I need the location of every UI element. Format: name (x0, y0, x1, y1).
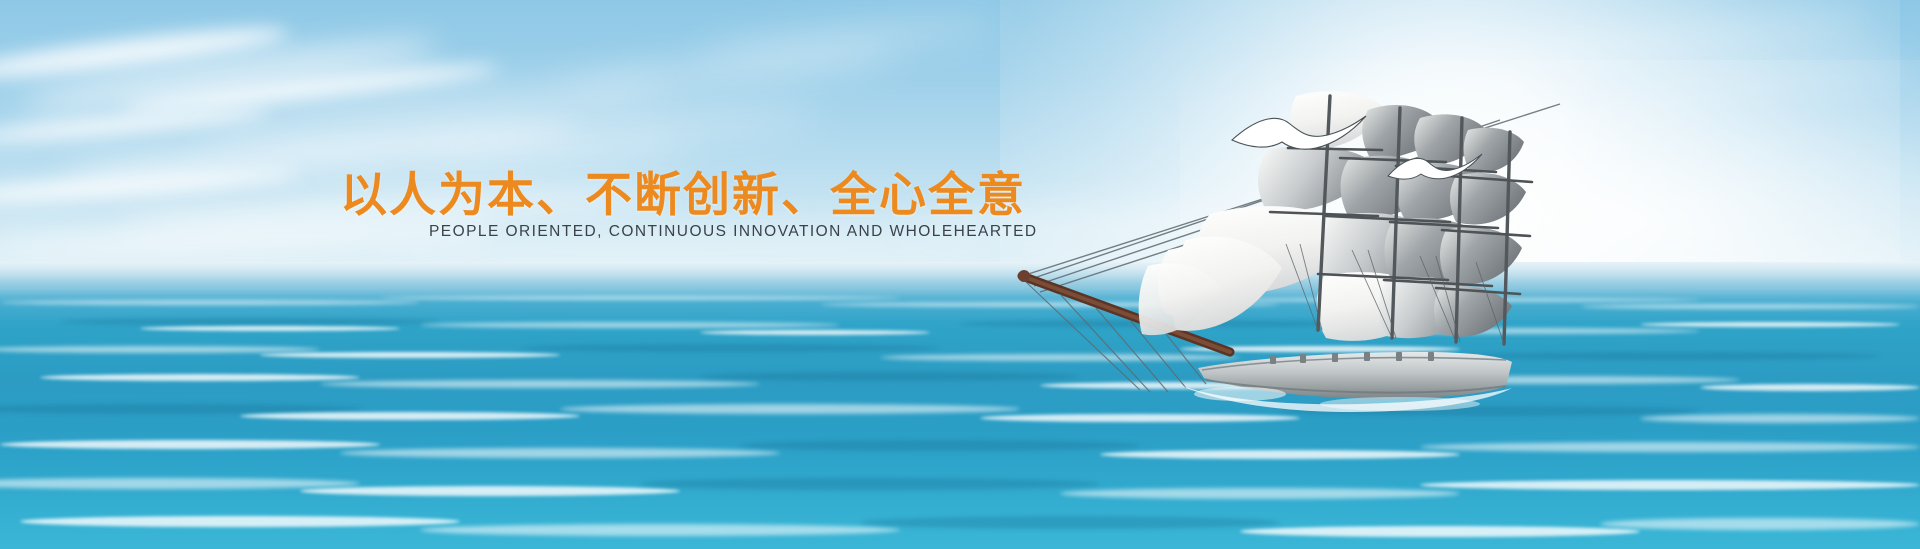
horizon-haze (0, 262, 1920, 302)
banner-subtitle: PEOPLE ORIENTED, CONTINUOUS INNOVATION A… (429, 223, 1038, 241)
banner-headline: 以人为本、不断创新、全心全意 (340, 156, 1026, 225)
sky-background (0, 0, 1920, 300)
sea-background (0, 262, 1920, 549)
hero-banner: 以人为本、不断创新、全心全意 PEOPLE ORIENTED, CONTINUO… (0, 0, 1920, 549)
